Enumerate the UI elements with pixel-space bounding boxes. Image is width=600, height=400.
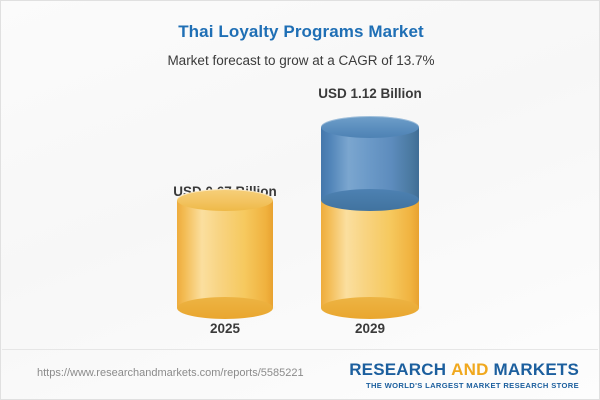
bar-2025-base: [177, 200, 273, 308]
cylinder-bottom-cap: [177, 297, 273, 319]
brand-word-research: RESEARCH: [349, 360, 446, 379]
report-url[interactable]: https://www.researchandmarkets.com/repor…: [37, 367, 304, 379]
cylinder-top-cap: [177, 189, 273, 211]
bar-group-2025: USD 0.67 Billion 2025: [177, 1, 273, 349]
footer: https://www.researchandmarkets.com/repor…: [1, 350, 600, 400]
brand-logo: RESEARCH AND MARKETS THE WORLD'S LARGEST…: [349, 360, 579, 390]
cylinder-bottom-cap: [321, 189, 419, 211]
brand-word-and: AND: [451, 360, 488, 379]
brand-wordmark: RESEARCH AND MARKETS: [349, 360, 579, 379]
plot-area: USD 0.67 Billion 2025 USD 1.12 Billion: [1, 1, 600, 349]
category-label-2029: 2029: [270, 321, 470, 336]
value-label-2029: USD 1.12 Billion: [270, 86, 470, 101]
brand-word-markets: MARKETS: [494, 360, 579, 379]
cylinder-body: [321, 200, 419, 308]
bar-2029-growth: [321, 127, 419, 200]
cylinder-body: [177, 200, 273, 308]
brand-tagline: THE WORLD'S LARGEST MARKET RESEARCH STOR…: [349, 381, 579, 390]
chart-card: Thai Loyalty Programs Market Market fore…: [0, 0, 600, 400]
cylinder-top-cap: [321, 116, 419, 138]
bar-group-2029: USD 1.12 Billion 2029: [321, 1, 419, 349]
cylinder-bottom-cap: [321, 297, 419, 319]
bar-2029-base: [321, 200, 419, 308]
